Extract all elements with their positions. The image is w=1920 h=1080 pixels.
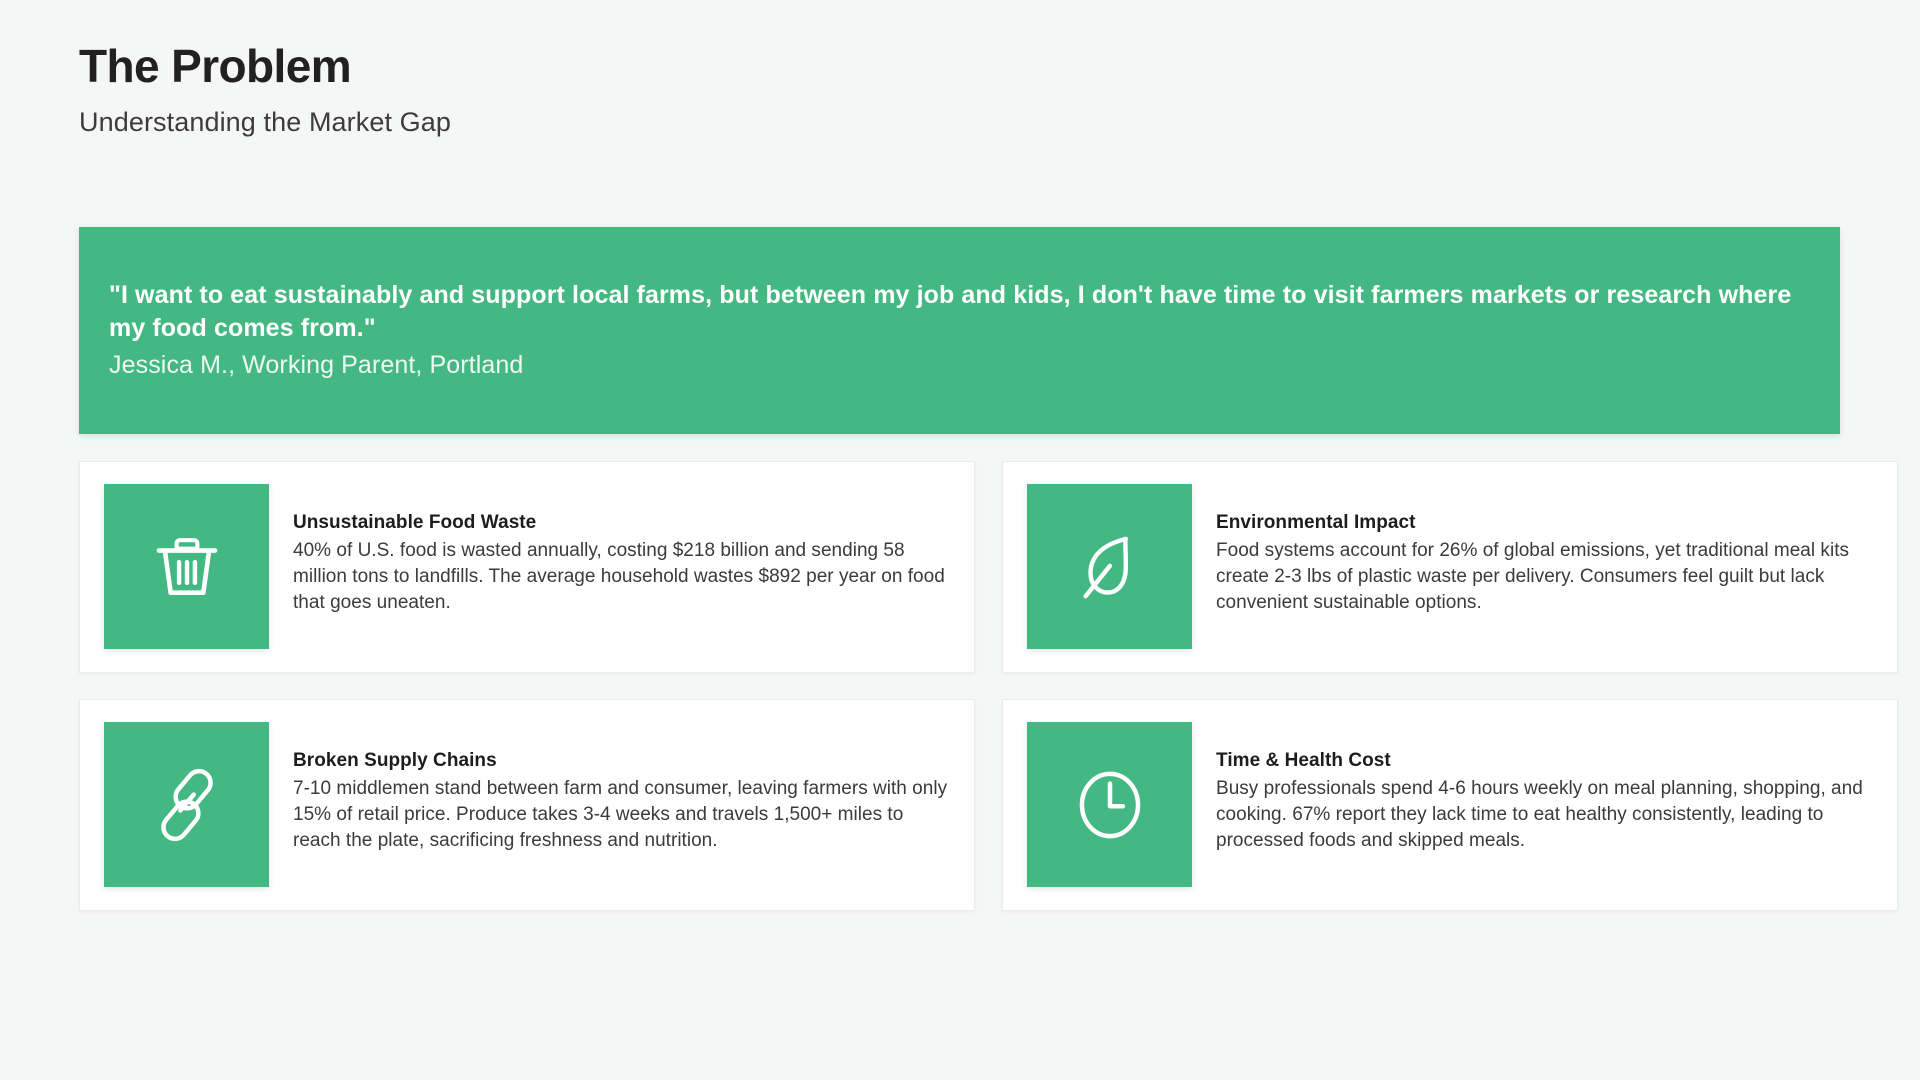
- customer-quote-banner: "I want to eat sustainably and support l…: [79, 227, 1840, 434]
- page-title: The Problem: [79, 42, 1839, 92]
- card-icon-tile: [104, 484, 269, 649]
- problem-card: Environmental Impact Food systems accoun…: [1002, 461, 1898, 673]
- card-title: Unsustainable Food Waste: [293, 511, 950, 535]
- card-icon-tile: [1027, 722, 1192, 887]
- problem-card-grid: Unsustainable Food Waste 40% of U.S. foo…: [79, 461, 1840, 911]
- card-title: Environmental Impact: [1216, 511, 1873, 535]
- card-title: Time & Health Cost: [1216, 749, 1873, 773]
- slide-header: The Problem Understanding the Market Gap: [79, 42, 1839, 138]
- card-icon-tile: [104, 722, 269, 887]
- problem-card: Broken Supply Chains 7-10 middlemen stan…: [79, 699, 975, 911]
- problem-card: Time & Health Cost Busy professionals sp…: [1002, 699, 1898, 911]
- card-body: Environmental Impact Food systems accoun…: [1192, 484, 1873, 616]
- quote-text: "I want to eat sustainably and support l…: [109, 279, 1810, 346]
- trash-icon: [148, 528, 226, 606]
- card-description: 7-10 middlemen stand between farm and co…: [293, 776, 950, 854]
- quote-attribution: Jessica M., Working Parent, Portland: [109, 349, 1810, 382]
- card-icon-tile: [1027, 484, 1192, 649]
- card-body: Unsustainable Food Waste 40% of U.S. foo…: [269, 484, 950, 616]
- slide-root: The Problem Understanding the Market Gap…: [0, 0, 1920, 1080]
- card-description: 40% of U.S. food is wasted annually, cos…: [293, 538, 950, 616]
- card-description: Busy professionals spend 4-6 hours weekl…: [1216, 776, 1873, 854]
- leaf-icon: [1071, 528, 1149, 606]
- chain-link-icon: [148, 766, 226, 844]
- card-description: Food systems account for 26% of global e…: [1216, 538, 1873, 616]
- problem-card: Unsustainable Food Waste 40% of U.S. foo…: [79, 461, 975, 673]
- card-body: Broken Supply Chains 7-10 middlemen stan…: [269, 722, 950, 854]
- page-subtitle: Understanding the Market Gap: [79, 106, 1839, 138]
- clock-icon: [1071, 766, 1149, 844]
- card-body: Time & Health Cost Busy professionals sp…: [1192, 722, 1873, 854]
- card-title: Broken Supply Chains: [293, 749, 950, 773]
